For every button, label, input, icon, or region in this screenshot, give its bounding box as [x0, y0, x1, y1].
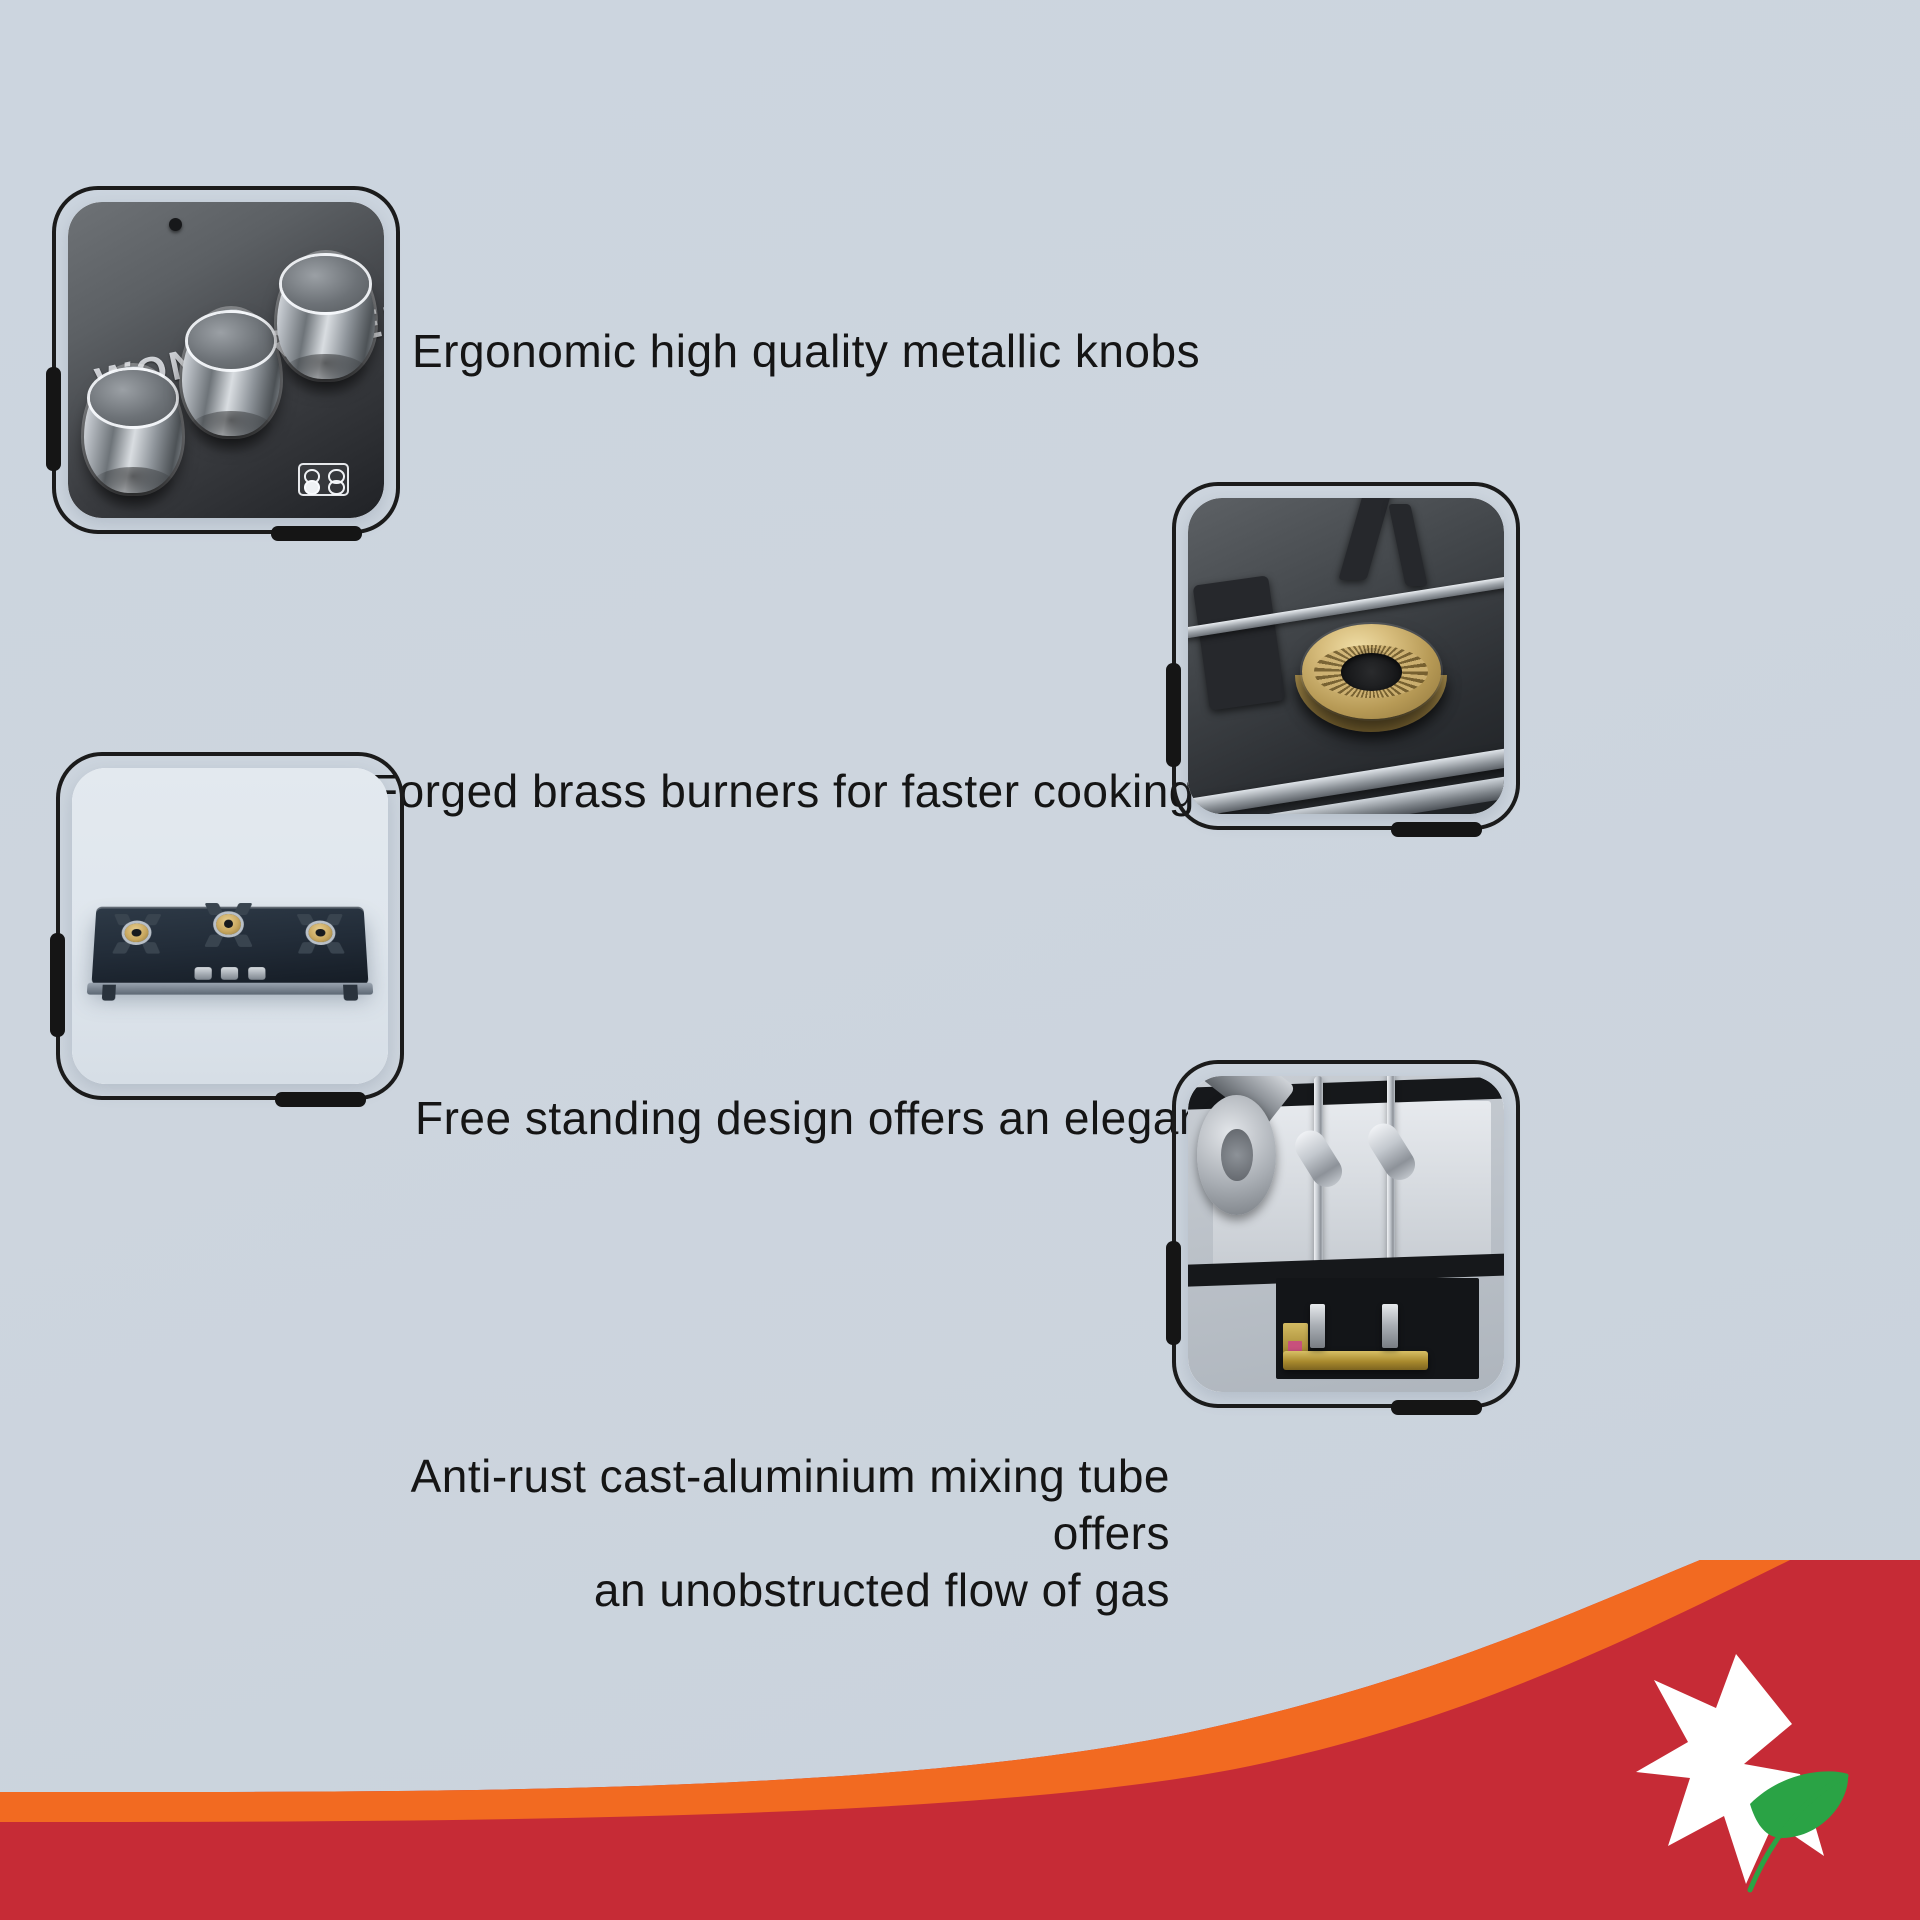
pan-support-arm-1 [1339, 498, 1395, 580]
card-accent-bottom [1391, 1400, 1481, 1415]
feature-image-knobs: WONDERCHEF [68, 202, 384, 518]
knob-3-icon [277, 253, 375, 379]
feature-image-mixing-tube [1188, 1076, 1504, 1392]
feature-text-knobs: Ergonomic high quality metallic knobs [412, 323, 1312, 380]
cast-aluminium-mixing-tube-photo [1188, 1076, 1504, 1392]
cast-aluminium-mixing-tube [1197, 1095, 1276, 1215]
feature-image-burners [1188, 498, 1504, 814]
pan-support-arm-2 [1388, 504, 1428, 586]
card-accent-bottom [275, 1092, 365, 1107]
cooktop-front-edge [87, 983, 373, 995]
burner-layout-icon [298, 463, 349, 495]
gas-pipe-1 [1314, 1076, 1322, 1272]
cooktop-leg-right [343, 985, 358, 1001]
gas-pipe-2 [1387, 1076, 1395, 1266]
card-accent-left [1166, 1241, 1181, 1345]
pipe-fitting-1 [1310, 1304, 1326, 1348]
star-leaf-logo [1624, 1646, 1854, 1896]
gas-stove-metallic-knobs-photo: WONDERCHEF [68, 202, 384, 518]
cooktop-burner-3 [297, 911, 345, 954]
free-standing-cooktop-photo [72, 768, 388, 1084]
card-accent-bottom [1391, 822, 1481, 837]
feature-card-burners [1172, 482, 1520, 830]
infographic-canvas: WONDERCHEF Ergonomic high quality metall… [0, 0, 1920, 1920]
card-accent-left [1166, 663, 1181, 767]
card-accent-left [46, 367, 61, 471]
brass-manifold [1283, 1351, 1428, 1370]
forged-brass-burner-photo [1188, 498, 1504, 814]
feature-card-mixing-tube [1172, 1060, 1520, 1408]
feature-text-burners: Forged brass burners for faster cooking [370, 763, 1270, 820]
cooktop-burner-1 [113, 911, 161, 954]
feature-card-knobs: WONDERCHEF [52, 186, 400, 534]
card-accent-left [50, 933, 65, 1037]
cooktop-knob-row [194, 967, 266, 980]
cooktop-leg-left [102, 985, 117, 1001]
cooktop-body [92, 907, 369, 985]
card-accent-bottom [271, 526, 361, 541]
cooktop-burner-2 [205, 901, 251, 949]
logo-star-shape [1636, 1654, 1824, 1884]
knob-2-icon [182, 309, 280, 435]
pipe-fitting-2 [1382, 1304, 1398, 1348]
ignition-dot-icon [169, 218, 182, 231]
brass-burner-ring [1302, 624, 1441, 719]
feature-image-free-standing [72, 768, 388, 1084]
feature-card-free-standing [56, 752, 404, 1100]
pan-support-left [1192, 575, 1285, 711]
knob-1-icon [84, 366, 182, 492]
